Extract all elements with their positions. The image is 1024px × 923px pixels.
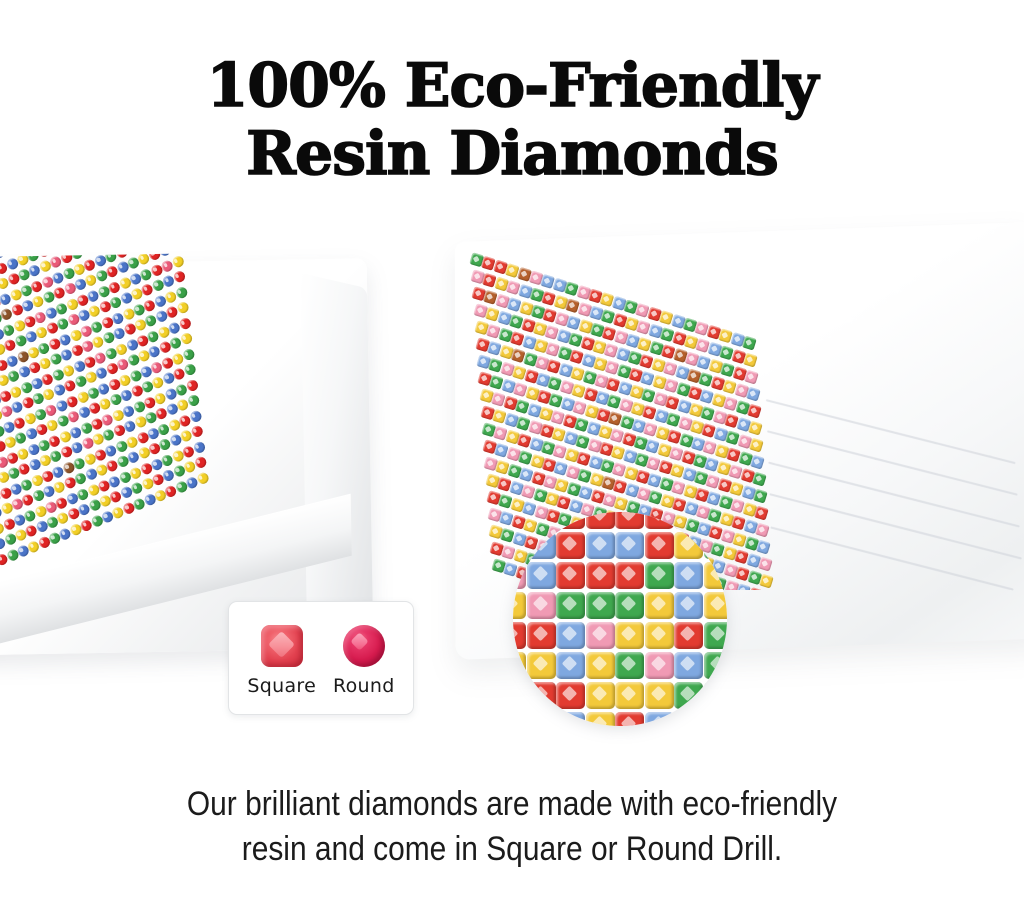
bead bbox=[756, 540, 771, 555]
magnifier-bead bbox=[645, 592, 674, 619]
magnifier-bead bbox=[527, 592, 556, 619]
tray-left-bead-area bbox=[0, 252, 293, 609]
bead bbox=[47, 252, 61, 254]
round-gem-icon bbox=[343, 625, 385, 667]
magnifier-bead bbox=[527, 622, 556, 649]
magnifier-bead bbox=[527, 512, 556, 529]
magnifier-bead bbox=[615, 532, 644, 559]
magnifier-bead bbox=[645, 682, 674, 709]
bead bbox=[3, 252, 17, 256]
bead bbox=[754, 506, 769, 521]
magnifier-bead bbox=[527, 712, 556, 726]
bead bbox=[759, 574, 774, 589]
caption-line-2: resin and come in Square or Round Drill. bbox=[61, 827, 962, 872]
square-label: Square bbox=[247, 675, 316, 697]
caption-line-1: Our brilliant diamonds are made with eco… bbox=[187, 785, 837, 823]
magnifier-bead bbox=[556, 712, 585, 726]
magnifier-bead bbox=[513, 652, 526, 679]
bead bbox=[744, 370, 759, 385]
tray-left-rim-right bbox=[301, 273, 373, 618]
magnifier-bead bbox=[645, 562, 674, 589]
magnifier-bead bbox=[674, 622, 703, 649]
bead bbox=[757, 557, 772, 572]
magnifier-bead bbox=[556, 622, 585, 649]
magnifier-bead bbox=[615, 622, 644, 649]
bead bbox=[747, 404, 762, 419]
legend-item-round[interactable]: Round bbox=[333, 625, 395, 697]
magnifier-bead-row bbox=[513, 562, 727, 589]
magnifier-bead bbox=[615, 592, 644, 619]
drill-type-legend-card[interactable]: Square Round bbox=[228, 601, 414, 715]
magnifier-bead bbox=[674, 652, 703, 679]
magnifier-bead bbox=[556, 512, 585, 529]
bead bbox=[751, 472, 766, 487]
magnifier-bead bbox=[674, 512, 703, 529]
bead bbox=[736, 583, 751, 590]
magnifier-bead bbox=[586, 652, 615, 679]
magnifier-bead bbox=[704, 592, 728, 619]
magnifier-bead bbox=[586, 512, 615, 529]
bead bbox=[750, 455, 765, 470]
magnifier-bead-row bbox=[513, 682, 727, 709]
headline-line-1: 100% Eco-Friendly bbox=[207, 51, 818, 121]
bead bbox=[753, 489, 768, 504]
magnifier-bead bbox=[586, 532, 615, 559]
magnifier-bead bbox=[586, 712, 615, 726]
magnifier-bead bbox=[615, 712, 644, 726]
magnifier-bead bbox=[615, 562, 644, 589]
magnifier-bead bbox=[527, 682, 556, 709]
magnifier-bead bbox=[645, 622, 674, 649]
magnifier-bead bbox=[513, 562, 526, 589]
magnifier-bead bbox=[674, 592, 703, 619]
magnifier-bead-row bbox=[513, 622, 727, 649]
magnifier-bead bbox=[556, 682, 585, 709]
magnifier-bead bbox=[615, 652, 644, 679]
bead bbox=[745, 387, 760, 402]
product-caption: Our brilliant diamonds are made with eco… bbox=[61, 782, 962, 872]
magnifier-bead bbox=[645, 712, 674, 726]
headline-line-2: Resin Diamonds bbox=[0, 120, 1024, 188]
product-marketing-image: 100% Eco-Friendly Resin Diamonds Square bbox=[0, 0, 1024, 923]
magnifier-bead bbox=[615, 512, 644, 529]
square-gem-icon bbox=[261, 625, 303, 667]
magnifier-bead bbox=[586, 622, 615, 649]
bead bbox=[168, 252, 182, 253]
magnifier-bead-row bbox=[513, 712, 727, 726]
magnifier-bead bbox=[586, 562, 615, 589]
magnifier-bead bbox=[556, 532, 585, 559]
bead bbox=[742, 336, 757, 351]
magnifier-bead bbox=[556, 592, 585, 619]
magnifier-content bbox=[513, 512, 727, 726]
magnifier-bead bbox=[645, 512, 674, 529]
bead bbox=[749, 438, 764, 453]
bead bbox=[755, 523, 770, 538]
magnifier-bead bbox=[645, 532, 674, 559]
bead bbox=[0, 252, 7, 260]
magnifier-bead bbox=[513, 532, 526, 559]
magnifier-bead bbox=[513, 592, 526, 619]
magnifier-bead bbox=[704, 622, 728, 649]
magnifier-bead bbox=[615, 682, 644, 709]
round-label: Round bbox=[333, 675, 395, 697]
bead bbox=[748, 421, 763, 436]
magnifier-bead bbox=[704, 712, 728, 726]
magnifier-bead bbox=[704, 652, 728, 679]
magnifier-bead bbox=[674, 562, 703, 589]
magnifier-bead bbox=[513, 512, 526, 529]
magnifier-bead bbox=[586, 682, 615, 709]
magnifier-bead-row bbox=[513, 512, 727, 529]
magnifier-bead-row bbox=[513, 532, 727, 559]
magnifier-bead bbox=[527, 532, 556, 559]
magnifier-closeup bbox=[513, 512, 727, 726]
tray-round-drills bbox=[0, 258, 373, 655]
magnifier-bead bbox=[556, 562, 585, 589]
magnifier-bead-row bbox=[513, 652, 727, 679]
magnifier-bead bbox=[513, 712, 526, 726]
magnifier-bead bbox=[674, 712, 703, 726]
magnifier-bead bbox=[527, 562, 556, 589]
magnifier-bead bbox=[556, 652, 585, 679]
magnifier-bead bbox=[513, 622, 526, 649]
magnifier-bead bbox=[704, 532, 728, 559]
magnifier-bead bbox=[674, 532, 703, 559]
bead bbox=[59, 252, 73, 265]
magnifier-bead-row bbox=[513, 592, 727, 619]
legend-item-square[interactable]: Square bbox=[247, 625, 316, 697]
magnifier-bead bbox=[704, 562, 728, 589]
bead bbox=[743, 353, 758, 368]
bead bbox=[80, 252, 94, 257]
magnifier-bead bbox=[645, 652, 674, 679]
magnifier-bead bbox=[527, 652, 556, 679]
magnifier-bead bbox=[704, 512, 728, 529]
magnifier-bead bbox=[586, 592, 615, 619]
magnifier-bead bbox=[674, 682, 703, 709]
page-title: 100% Eco-Friendly Resin Diamonds bbox=[0, 52, 1024, 188]
magnifier-bead bbox=[704, 682, 728, 709]
magnifier-bead bbox=[513, 682, 526, 709]
